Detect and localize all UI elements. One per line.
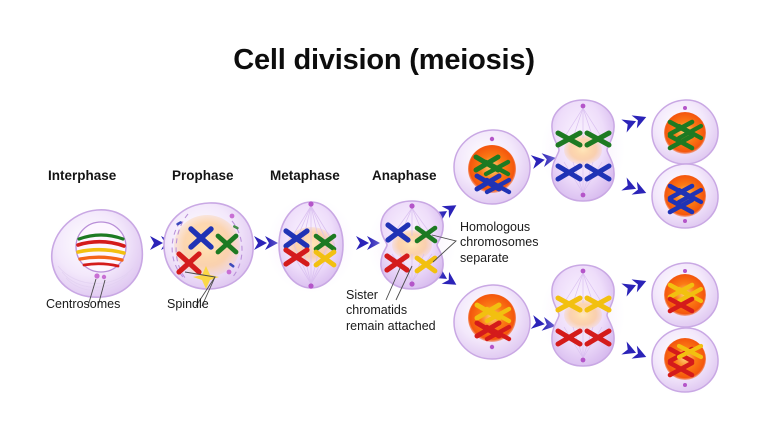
arrow-m2top-gamete1 [621, 111, 648, 133]
daughter-cell-bottom [452, 282, 532, 362]
stage-label-prophase: Prophase [172, 168, 234, 183]
interphase-cell [49, 209, 145, 306]
meiosis2-bottom [541, 263, 625, 367]
arrow-m2bot-gamete4 [621, 342, 648, 364]
stage-label-metaphase: Metaphase [270, 168, 340, 183]
stage-label-anaphase: Anaphase [372, 168, 437, 183]
gamete-2 [649, 160, 721, 232]
gamete-3 [649, 259, 721, 331]
anaphase-cell [368, 197, 456, 300]
callout-sister-chromatids: Sister chromatids remain attached [346, 288, 436, 334]
callout-homologous-chromosomes: Homologous chromosomes separate [460, 220, 539, 266]
callout-centrosomes: Centrosomes [46, 297, 120, 312]
metaphase-cell [267, 197, 355, 293]
meiosis2-top [541, 98, 625, 202]
stage-label-interphase: Interphase [48, 168, 116, 183]
prophase-cell [163, 201, 255, 306]
meiosis-diagram: Cell division (meiosis) [0, 0, 768, 435]
arrow-m2bot-gamete3 [621, 275, 648, 297]
gamete-1 [649, 96, 721, 168]
callout-spindle: Spindle [167, 297, 209, 312]
diagram-canvas [0, 0, 768, 435]
gamete-4 [649, 324, 721, 396]
arrow-m2top-gamete2 [621, 178, 648, 200]
daughter-cell-top [452, 127, 532, 207]
